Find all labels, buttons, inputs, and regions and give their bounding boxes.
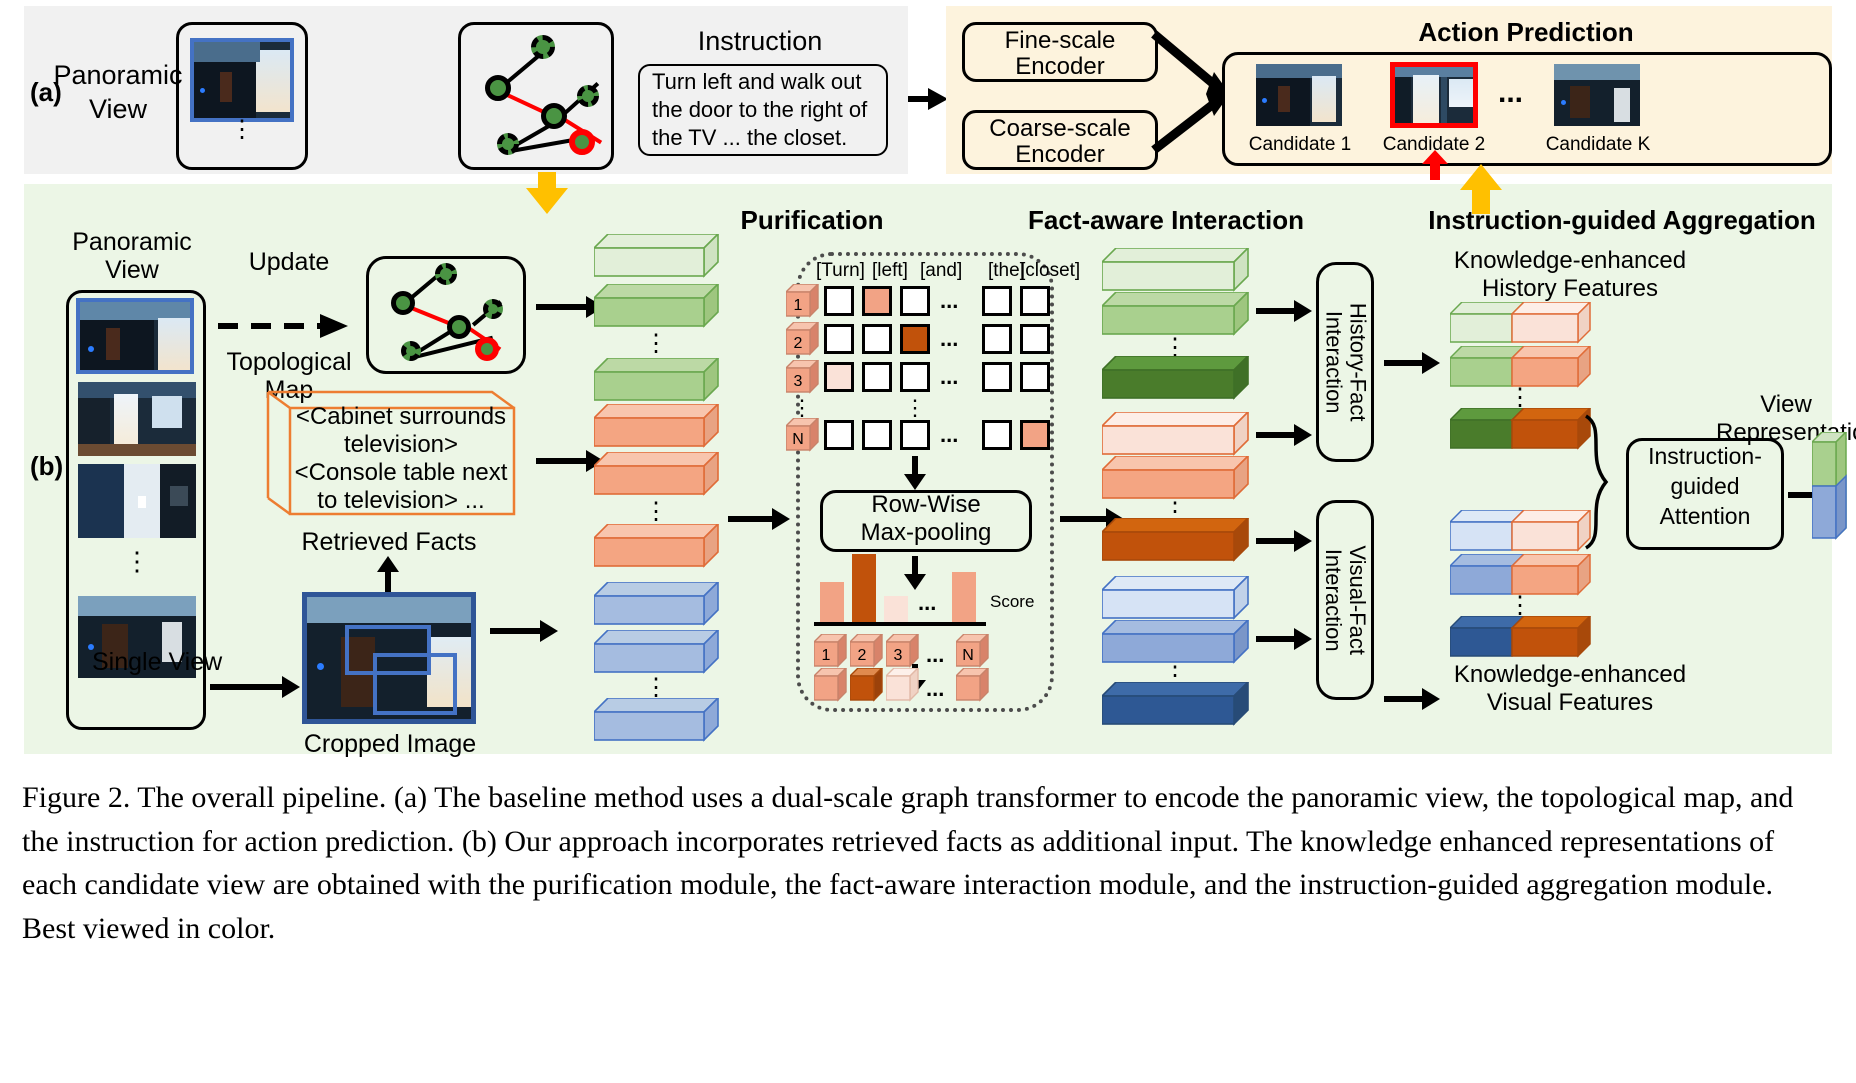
matrix-row-dots: ... bbox=[940, 422, 958, 448]
feature-bar-fact-1 bbox=[594, 404, 720, 448]
matrix-cell bbox=[824, 420, 854, 450]
arrow-matrix-to-maxpool bbox=[900, 456, 930, 490]
knowledge-history-bar-2 bbox=[1450, 346, 1592, 388]
arrow-cropped-to-visual-features bbox=[490, 620, 558, 642]
fact-aware-bar-fact-2 bbox=[1102, 456, 1250, 500]
knowledge-visual-bar-n bbox=[1450, 616, 1592, 658]
panel-b-topological-label-line1: Topological bbox=[214, 348, 364, 376]
matrix-row-cube-3: 3 bbox=[786, 360, 820, 394]
matrix-cell bbox=[900, 362, 930, 392]
arrow-features-to-purification bbox=[728, 508, 790, 530]
figure-caption: Figure 2. The overall pipeline. (a) The … bbox=[22, 776, 1832, 950]
feature-bar-fact-n bbox=[594, 524, 720, 568]
matrix-cell bbox=[824, 286, 854, 316]
matrix-cell bbox=[862, 420, 892, 450]
history-fact-interaction-label-line2: Interaction bbox=[1321, 303, 1345, 422]
knowledge-history-label-line2: History Features bbox=[1420, 276, 1720, 303]
matrix-cell bbox=[824, 362, 854, 392]
panel-a-panoramic-view-label-line1: Panoramic bbox=[48, 60, 188, 90]
fact-aware-history-ellipsis: ⋮ bbox=[1102, 344, 1248, 352]
feature-bar-fact-2 bbox=[594, 452, 720, 496]
graph-node-unexplored bbox=[483, 299, 503, 319]
matrix-cell bbox=[1020, 420, 1050, 450]
score-cube-n: N bbox=[956, 634, 990, 668]
feature-bar-visual-2 bbox=[594, 630, 720, 674]
fine-scale-encoder-label-line1: Fine-scale bbox=[962, 28, 1158, 55]
retrieved-facts-line3: <Console table next bbox=[290, 460, 512, 487]
fact-aware-bar-visual-1 bbox=[1102, 576, 1250, 620]
knowledge-visual-label-line2: Visual Features bbox=[1420, 690, 1720, 717]
retrieved-facts-label: Retrieved Facts bbox=[264, 528, 514, 556]
matrix-col-header-left: [left] bbox=[872, 260, 908, 281]
knowledge-visual-bar-1 bbox=[1450, 510, 1592, 552]
arrow-cropped-to-facts bbox=[376, 556, 400, 592]
maxpool-label-line2: Max-pooling bbox=[820, 520, 1032, 547]
svg-text:1: 1 bbox=[822, 647, 831, 664]
panoramic-thumb-2[interactable] bbox=[78, 382, 196, 456]
selected-cube-n bbox=[956, 668, 990, 702]
graph-node-unexplored bbox=[401, 341, 421, 361]
visual-fact-interaction-label-line2: Interaction bbox=[1321, 545, 1345, 655]
feature-bar-history-n bbox=[594, 358, 720, 402]
svg-text:N: N bbox=[792, 431, 804, 448]
matrix-cell bbox=[982, 286, 1012, 316]
panel-b-panoramic-label-line1: Panoramic bbox=[52, 228, 212, 256]
candidate-2-image[interactable] bbox=[1390, 62, 1478, 128]
matrix-col-header-closet: [closet] bbox=[1020, 260, 1080, 281]
score-bar-1 bbox=[820, 582, 844, 624]
arrow-instruction-to-encoders bbox=[908, 88, 948, 110]
matrix-row-dots: ... bbox=[940, 364, 958, 390]
history-fact-interaction-label-wrap: History-Fact Interaction bbox=[1316, 262, 1374, 462]
score-bars-ellipsis: ... bbox=[918, 590, 936, 616]
arrow-visual-to-vf bbox=[1256, 628, 1312, 650]
fact-features-ellipsis: ⋮ bbox=[594, 508, 718, 516]
score-cube-3: 3 bbox=[886, 634, 920, 668]
arrow-history-to-hf bbox=[1256, 300, 1312, 322]
knowledge-history-ellipsis: ⋮ bbox=[1450, 394, 1590, 402]
knowledge-visual-label-line1: Knowledge-enhanced bbox=[1420, 662, 1720, 689]
matrix-row-cube-1: 1 bbox=[786, 284, 820, 318]
matrix-cell bbox=[862, 324, 892, 354]
retrieved-facts-line2: television> bbox=[290, 432, 512, 459]
graph-node-target bbox=[569, 129, 595, 155]
matrix-cell bbox=[900, 286, 930, 316]
fact-aware-bar-history-2 bbox=[1102, 292, 1250, 336]
matrix-cell bbox=[862, 362, 892, 392]
matrix-cell bbox=[900, 324, 930, 354]
matrix-cell bbox=[1020, 324, 1050, 354]
fine-scale-encoder-label-line2: Encoder bbox=[962, 54, 1158, 81]
fact-aware-bar-history-n bbox=[1102, 356, 1250, 400]
fact-aware-bar-visual-2 bbox=[1102, 620, 1250, 664]
knowledge-history-label-line1: Knowledge-enhanced bbox=[1420, 248, 1720, 275]
arrow-fact-to-vf bbox=[1256, 530, 1312, 552]
knowledge-history-bar-1 bbox=[1450, 302, 1592, 344]
update-dashed-arrow-head bbox=[320, 312, 350, 340]
panel-b-tag: (b) bbox=[30, 452, 63, 481]
panel-a-topological-card bbox=[458, 22, 614, 170]
svg-text:1: 1 bbox=[794, 297, 803, 314]
matrix-row-dots: ... bbox=[940, 326, 958, 352]
graph-node-visited bbox=[485, 75, 511, 101]
panel-a-panoramic-view-label-line2: View bbox=[48, 94, 188, 124]
fact-aware-interaction-title: Fact-aware Interaction bbox=[1016, 206, 1316, 235]
visual-fact-interaction-label-line1: Visual-Fact bbox=[1345, 545, 1369, 655]
score-axis bbox=[814, 622, 986, 626]
score-bar-n bbox=[952, 572, 976, 624]
score-cube-1: 1 bbox=[814, 634, 848, 668]
matrix-row-cube-n: N bbox=[786, 418, 820, 452]
cropped-image-label: Cropped Image bbox=[280, 730, 500, 758]
fact-aware-bar-visual-n bbox=[1102, 682, 1250, 726]
panoramic-thumb-1[interactable] bbox=[76, 298, 194, 374]
figure-root: (a) Panoramic View ⋮ Instruction Turn le… bbox=[0, 0, 1856, 1083]
cropped-image[interactable] bbox=[302, 592, 476, 724]
fact-aware-fact-ellipsis: ⋮ bbox=[1102, 508, 1248, 516]
matrix-rows-ellipsis: ⋮ bbox=[786, 404, 818, 412]
selected-cube-2 bbox=[850, 668, 884, 702]
candidate-1-label: Candidate 1 bbox=[1240, 134, 1360, 155]
panel-a-panoramic-ellipsis: ⋮ bbox=[190, 126, 294, 134]
view-representations-label-line1: View bbox=[1716, 392, 1856, 419]
graph-node-unexplored bbox=[435, 263, 457, 285]
candidate-1-image[interactable] bbox=[1256, 64, 1342, 126]
instruction-guided-attention-line1: Instruction- bbox=[1626, 444, 1784, 470]
selected-cube-1 bbox=[814, 668, 848, 702]
svg-text:3: 3 bbox=[894, 647, 903, 664]
single-view-label: Single View bbox=[92, 648, 222, 676]
score-bar-3 bbox=[884, 596, 908, 624]
coarse-scale-encoder-label-line1: Coarse-scale bbox=[962, 116, 1158, 143]
knowledge-visual-ellipsis: ⋮ bbox=[1450, 602, 1590, 610]
matrix-cell bbox=[982, 324, 1012, 354]
matrix-cell bbox=[900, 420, 930, 450]
selected-cube-3 bbox=[886, 668, 920, 702]
feature-bar-history-2 bbox=[594, 284, 720, 328]
knowledge-visual-bar-2 bbox=[1450, 554, 1592, 596]
selected-cubes-ellipsis: ... bbox=[926, 676, 944, 702]
candidate-k-image[interactable] bbox=[1554, 64, 1640, 126]
view-representation-stack bbox=[1812, 432, 1852, 550]
visual-fact-interaction-label-wrap: Visual-Fact Interaction bbox=[1316, 500, 1374, 700]
svg-text:2: 2 bbox=[858, 647, 867, 664]
matrix-col-header-turn: [Turn] bbox=[816, 260, 865, 281]
action-prediction-title: Action Prediction bbox=[1226, 18, 1826, 47]
instruction-text-line1: Turn left and walk out bbox=[652, 70, 878, 95]
matrix-cell bbox=[1020, 286, 1050, 316]
panoramic-thumb-3[interactable] bbox=[78, 464, 196, 538]
feature-bar-visual-1 bbox=[594, 582, 720, 626]
instruction-text-line2: the door to the right of bbox=[652, 98, 878, 123]
purification-title: Purification bbox=[682, 206, 942, 235]
maxpool-label-line1: Row-Wise bbox=[820, 492, 1032, 519]
svg-text:3: 3 bbox=[794, 373, 803, 390]
matrix-col-header-and: [and] bbox=[920, 260, 962, 281]
panel-b-panoramic-label-line2: View bbox=[52, 256, 212, 284]
knowledge-history-bar-n bbox=[1450, 408, 1592, 450]
panoramic-thumbs-ellipsis: ⋮ bbox=[78, 556, 196, 566]
graph-node-unexplored bbox=[531, 35, 555, 59]
retrieved-facts-line4: to television> ... bbox=[290, 488, 512, 515]
graph-node-target bbox=[475, 337, 499, 361]
instruction-title: Instruction bbox=[630, 26, 890, 56]
update-label: Update bbox=[214, 248, 364, 276]
fact-aware-bar-fact-1 bbox=[1102, 412, 1250, 456]
selected-candidate-arrow-icon bbox=[1418, 150, 1452, 180]
svg-text:N: N bbox=[962, 647, 974, 664]
arrow-panoramic-to-cropped bbox=[210, 676, 300, 698]
fact-aware-visual-ellipsis: ⋮ bbox=[1102, 672, 1248, 680]
matrix-cell bbox=[824, 324, 854, 354]
score-axis-label: Score bbox=[990, 592, 1034, 611]
arrow-maxpool-to-scores bbox=[900, 556, 930, 590]
candidates-ellipsis: ... bbox=[1498, 76, 1523, 110]
matrix-cell bbox=[982, 420, 1012, 450]
fact-aware-bar-fact-n bbox=[1102, 518, 1250, 562]
instruction-guided-attention-line2: guided bbox=[1626, 474, 1784, 500]
visual-features-ellipsis: ⋮ bbox=[594, 684, 718, 692]
feature-bar-visual-n bbox=[594, 698, 720, 742]
matrix-cell bbox=[982, 362, 1012, 392]
matrix-row-cube-2: 2 bbox=[786, 322, 820, 356]
graph-node-visited bbox=[447, 315, 471, 339]
instruction-guided-aggregation-title: Instruction-guided Aggregation bbox=[1412, 206, 1832, 235]
arrow-fact-to-hf bbox=[1256, 424, 1312, 446]
graph-node-visited bbox=[541, 103, 567, 129]
matrix-col-ellipsis: ⋮ bbox=[900, 404, 930, 412]
graph-node-visited bbox=[391, 291, 415, 315]
candidate-k-label: Candidate K bbox=[1538, 134, 1658, 155]
yellow-arrow-down-icon bbox=[524, 172, 570, 214]
feature-bar-history-1 bbox=[594, 234, 720, 278]
graph-node-unexplored bbox=[497, 133, 519, 155]
instruction-guided-attention-line3: Attention bbox=[1626, 504, 1784, 530]
history-features-ellipsis: ⋮ bbox=[594, 340, 718, 348]
panel-a-panoramic-thumb bbox=[190, 38, 294, 122]
arrow-hf-to-knowledge-history bbox=[1384, 352, 1440, 374]
matrix-cell bbox=[1020, 362, 1050, 392]
aggregation-connector bbox=[1584, 412, 1628, 552]
history-fact-interaction-label-line1: History-Fact bbox=[1345, 303, 1369, 422]
matrix-row-dots: ... bbox=[940, 288, 958, 314]
fact-aware-bar-history-1 bbox=[1102, 248, 1250, 292]
retrieved-facts-line1: <Cabinet surrounds bbox=[290, 404, 512, 431]
graph-node-unexplored bbox=[577, 85, 599, 107]
score-bar-2 bbox=[852, 554, 876, 624]
score-cube-2: 2 bbox=[850, 634, 884, 668]
svg-text:2: 2 bbox=[794, 335, 803, 352]
panel-b-topological-card bbox=[366, 256, 526, 374]
instruction-text-line3: the TV ... the closet. bbox=[652, 126, 878, 151]
coarse-scale-encoder-label-line2: Encoder bbox=[962, 142, 1158, 169]
update-dashed-arrow-shaft bbox=[218, 323, 324, 329]
matrix-cell bbox=[862, 286, 892, 316]
